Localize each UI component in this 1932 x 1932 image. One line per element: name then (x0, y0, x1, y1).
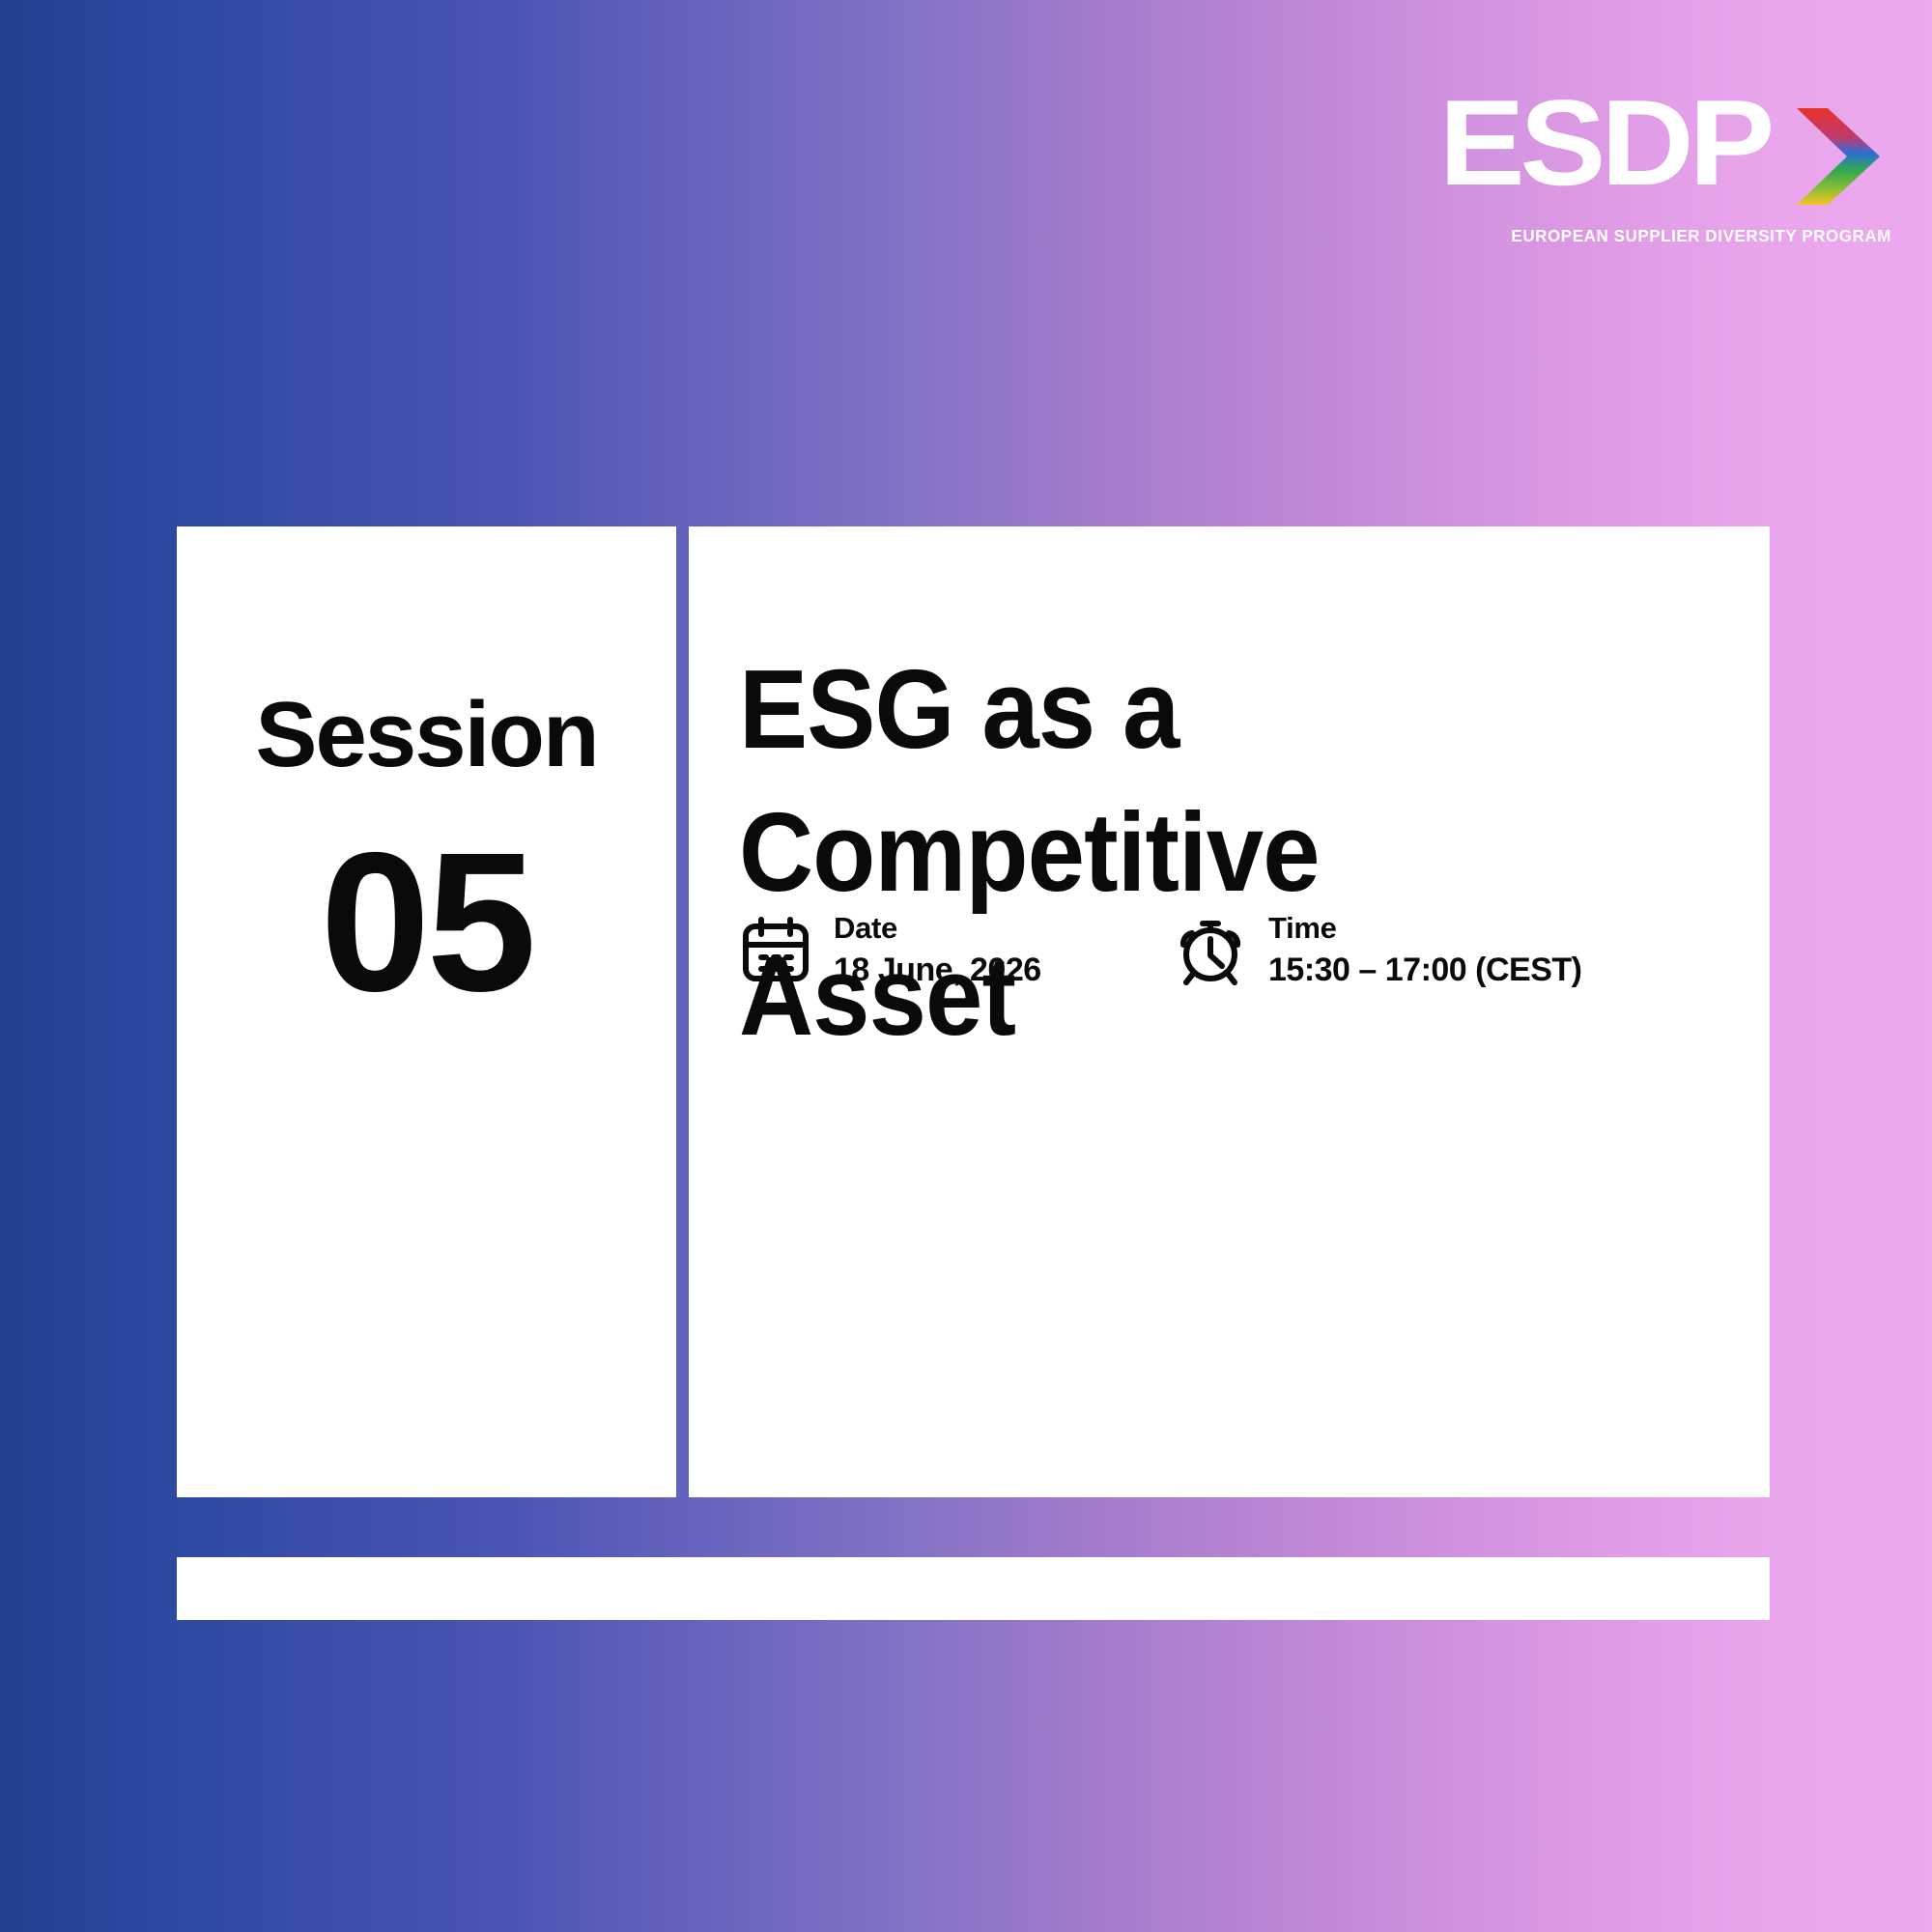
session-label: Session (177, 689, 676, 781)
content-card: Session 05 ESG as a Competitive Asset (177, 526, 1770, 1497)
date-info: Date 18 June, 2026 (739, 908, 1174, 992)
time-value: 15:30 – 17:00 (CEST) (1268, 949, 1582, 993)
logo-tagline: EUROPEAN SUPPLIER DIVERSITY PROGRAM (1489, 226, 1891, 246)
time-text: Time 15:30 – 17:00 (CEST) (1268, 908, 1582, 992)
logo-row: ESDP (1476, 93, 1891, 215)
session-block: Session 05 (177, 689, 676, 1014)
date-value: 18 June, 2026 (834, 949, 1041, 993)
title-line-1: ESG as a (739, 638, 1521, 781)
date-text: Date 18 June, 2026 (834, 908, 1041, 992)
alarm-clock-icon (1174, 914, 1247, 987)
time-label: Time (1268, 908, 1582, 949)
session-announcement-card: ESDP EUROP (0, 0, 1932, 1932)
date-label: Date (834, 908, 1041, 949)
session-panel: Session 05 (177, 526, 676, 1497)
session-number: 05 (177, 832, 676, 1014)
chevron-right-icon (1783, 102, 1891, 215)
bottom-accent-bar (177, 1557, 1770, 1620)
meta-row: Date 18 June, 2026 (739, 908, 1582, 992)
calendar-icon (739, 914, 812, 987)
time-info: Time 15:30 – 17:00 (CEST) (1174, 908, 1582, 992)
logo-wordmark: ESDP (1438, 93, 1770, 192)
main-panel: ESG as a Competitive Asset (689, 526, 1770, 1497)
esdp-logo: ESDP EUROP (1476, 93, 1891, 246)
page-title: ESG as a Competitive Asset (739, 638, 1521, 1067)
